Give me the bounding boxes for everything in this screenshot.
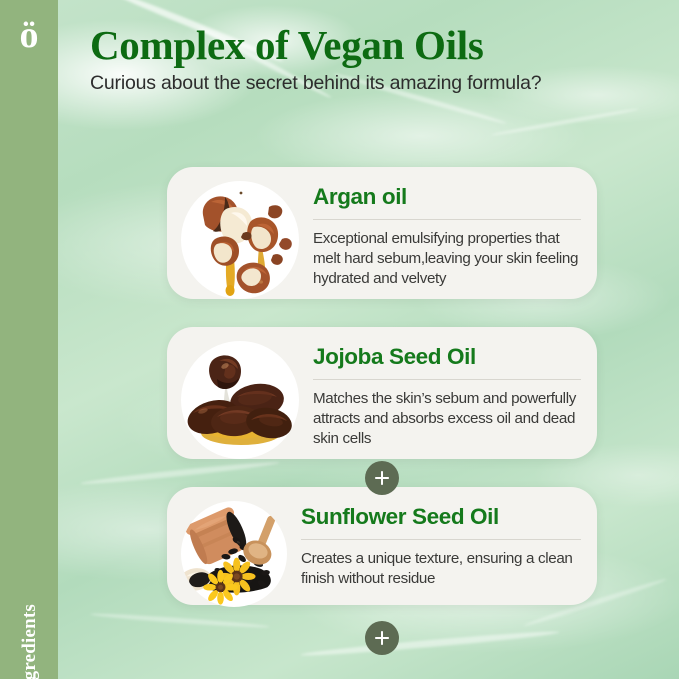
divider (313, 379, 581, 380)
gel-highlight-streak (90, 612, 270, 630)
ingredient-text-block: Argan oil Exceptional emulsifying proper… (299, 181, 581, 289)
jojoba-seeds-illustration (181, 341, 299, 459)
divider (301, 539, 581, 540)
page-title: Complex of Vegan Oils (90, 24, 650, 67)
ingredient-card-jojoba-seed-oil[interactable]: Jojoba Seed Oil Matches the skin’s sebum… (167, 327, 597, 459)
section-label-key-ingredients: Key Ingredients (19, 547, 41, 679)
ingredient-card-argan-oil[interactable]: Argan oil Exceptional emulsifying proper… (167, 167, 597, 299)
argan-nuts-illustration (181, 181, 299, 299)
plus-badge-1 (365, 461, 399, 495)
ingredient-card-list: Argan oil Exceptional emulsifying proper… (167, 167, 597, 605)
ingredient-card-sunflower-seed-oil[interactable]: Sunflower Seed Oil Creates a unique text… (167, 487, 597, 605)
gel-highlight-streak (300, 629, 560, 659)
ingredient-text-block: Sunflower Seed Oil Creates a unique text… (287, 501, 581, 589)
sunflower-seeds-illustration (181, 501, 287, 607)
divider (313, 219, 581, 220)
ingredient-infographic-poster: ö Key Ingredients Complex of Vegan Oils … (0, 0, 679, 679)
gel-highlight-streak (491, 107, 639, 137)
jojoba-seeds-image (181, 341, 299, 459)
brand-logo-icon: ö (0, 16, 58, 54)
plus-badge-2 (365, 621, 399, 655)
ingredient-description: Exceptional emulsifying properties that … (313, 229, 581, 289)
ingredient-description: Matches the skin’s sebum and powerfully … (313, 389, 581, 449)
ingredient-text-block: Jojoba Seed Oil Matches the skin’s sebum… (299, 341, 581, 449)
ingredient-title: Jojoba Seed Oil (313, 345, 581, 370)
plus-icon (374, 630, 390, 646)
ingredient-title: Argan oil (313, 185, 581, 210)
plus-icon (374, 470, 390, 486)
brand-side-rail: ö Key Ingredients (0, 0, 58, 679)
header-block: Complex of Vegan Oils Curious about the … (90, 24, 650, 96)
ingredient-description: Creates a unique texture, ensuring a cle… (301, 549, 581, 589)
sunflower-seeds-image (181, 501, 287, 607)
page-subtitle: Curious about the secret behind its amaz… (90, 72, 650, 95)
ingredient-title: Sunflower Seed Oil (301, 505, 581, 530)
argan-nuts-image (181, 181, 299, 299)
